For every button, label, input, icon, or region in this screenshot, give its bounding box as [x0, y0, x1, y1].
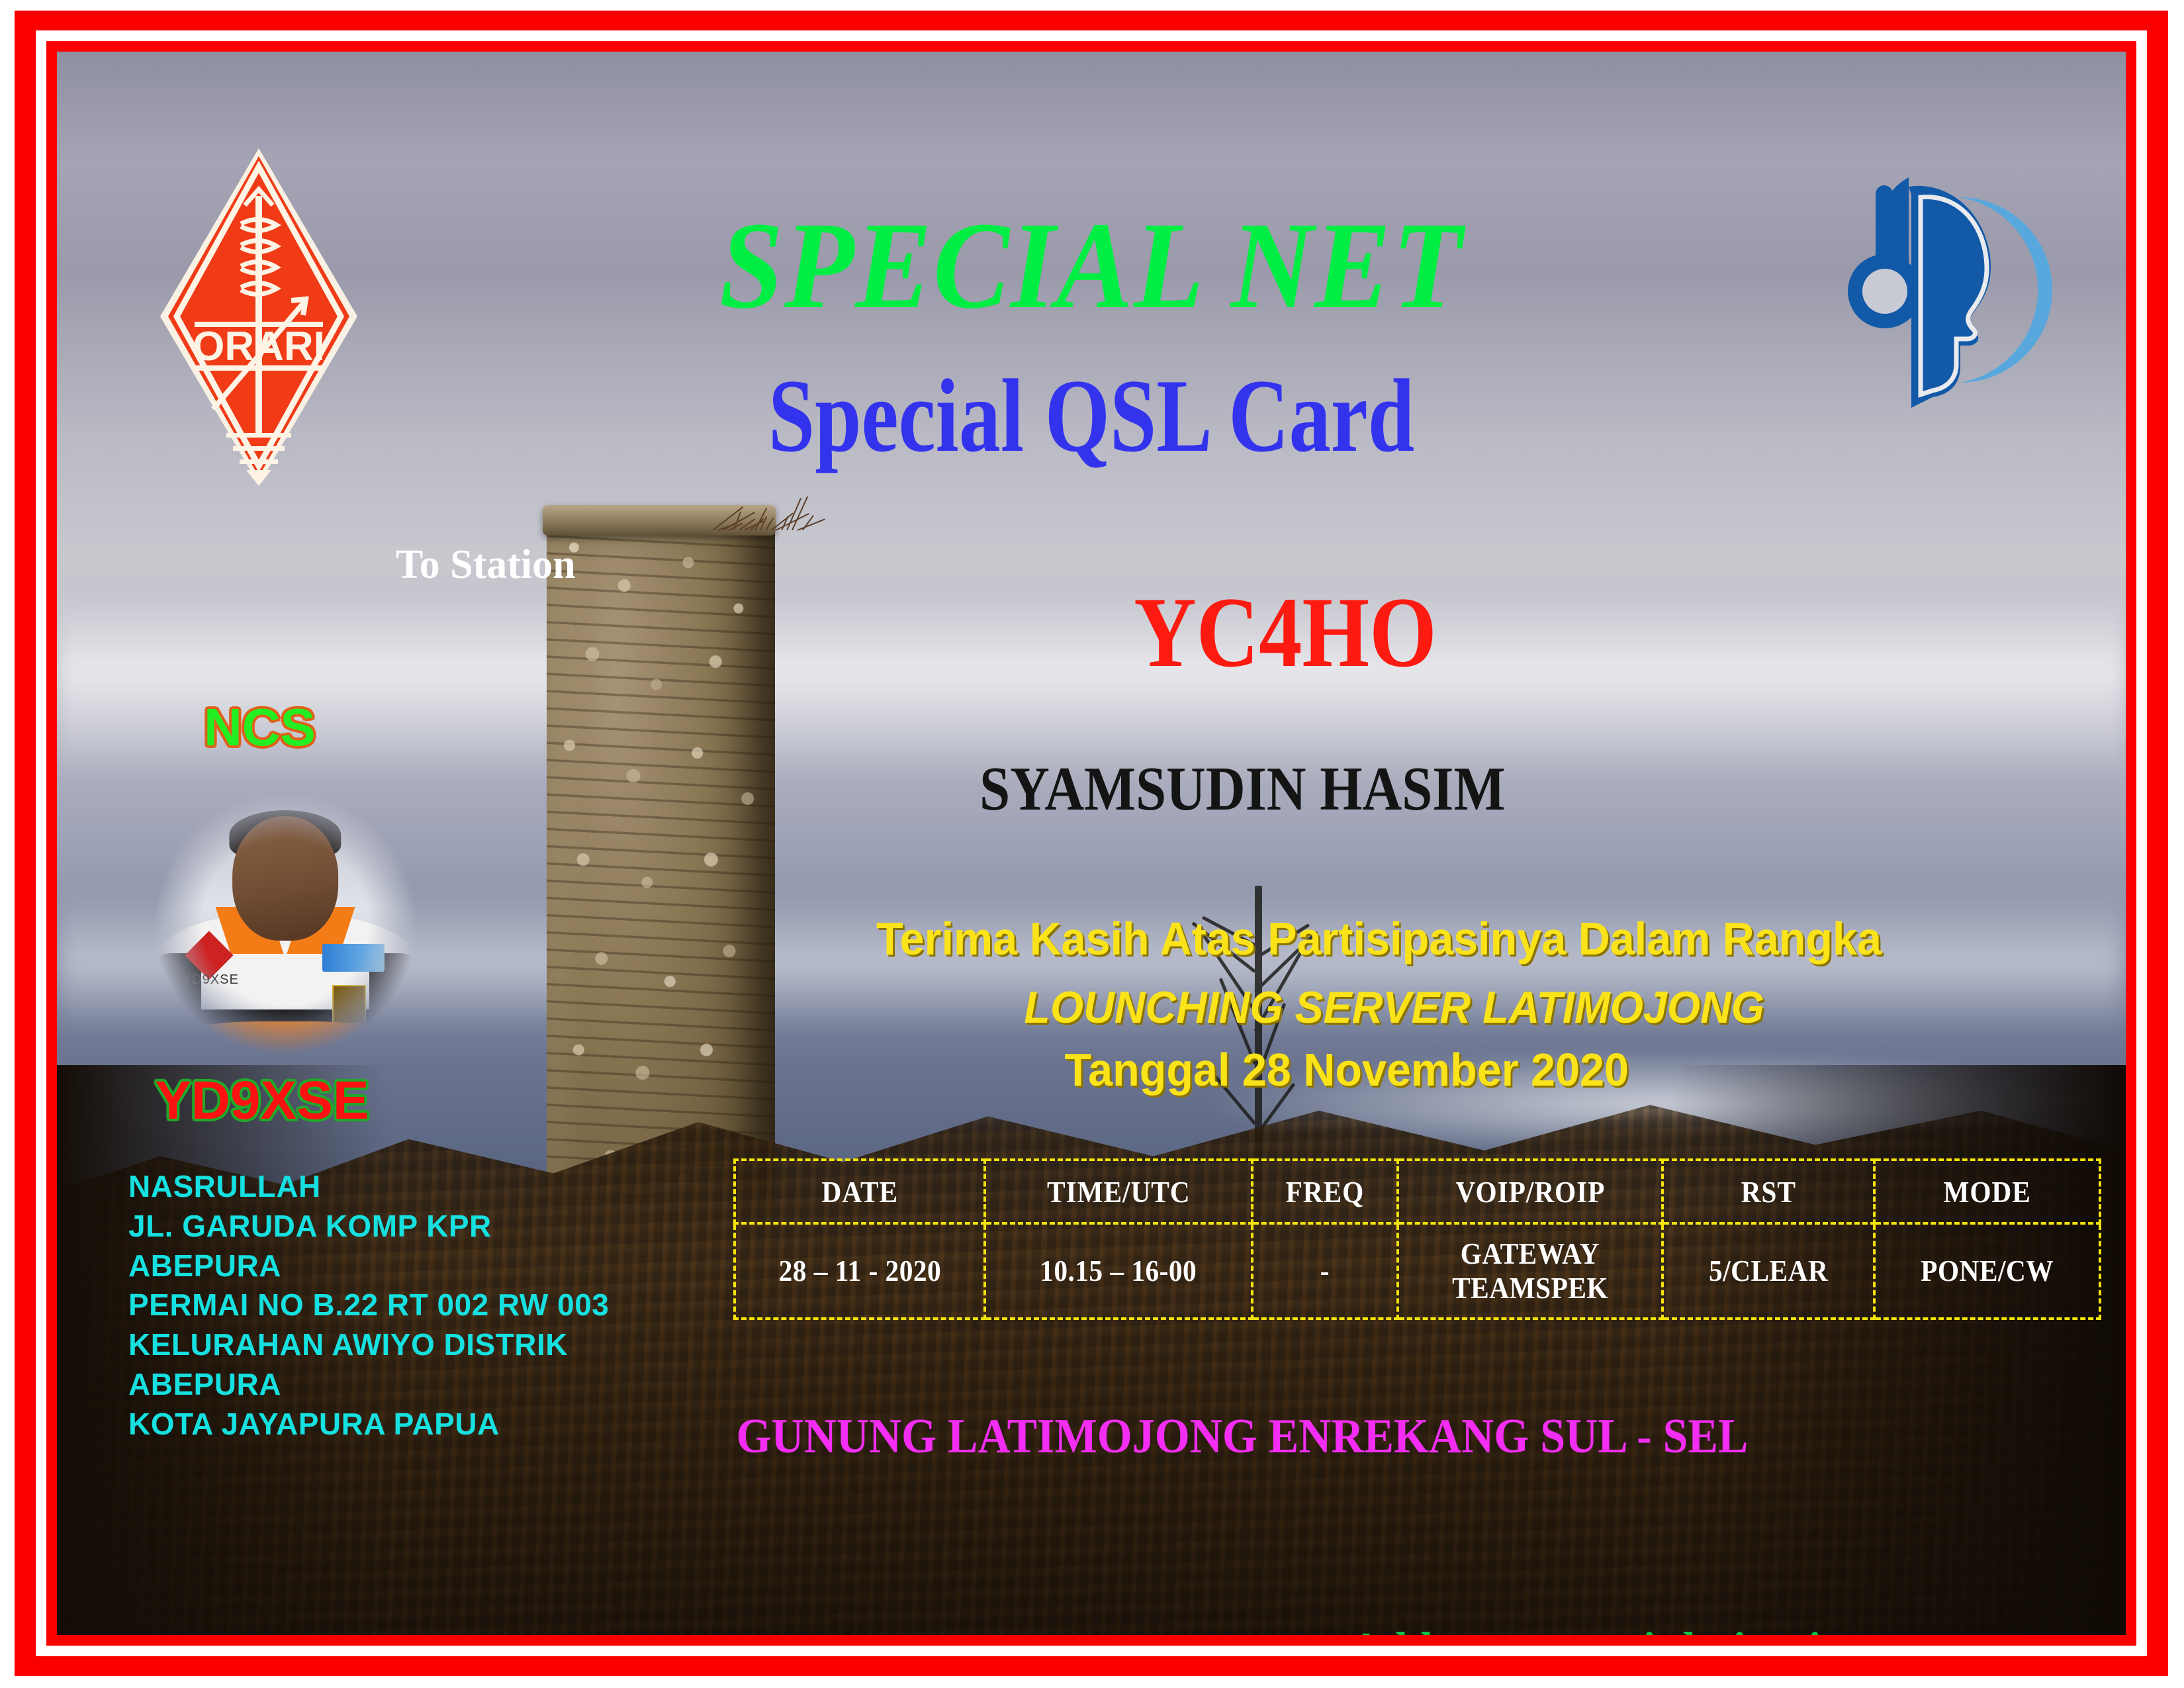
col-header-mode: MODE — [1874, 1160, 2100, 1223]
orari-logo-text: ORARI — [193, 324, 325, 369]
cell-mode: PONE/CW — [1874, 1223, 2100, 1319]
address-line: PERMAI NO B.22 RT 002 RW 003 — [128, 1286, 631, 1325]
address-line: ABEPURA — [128, 1365, 631, 1405]
uniform-id-badge — [332, 985, 366, 1025]
location-caption: GUNUNG LATIMOJONG ENREKANG SUL - SEL — [692, 1409, 1792, 1465]
address-line: KOTA JAYAPURA PAPUA — [128, 1405, 631, 1444]
title-special-net: SPECIAL NET — [687, 193, 1496, 337]
table-header-row: DATE TIME/UTC FREQ VOIP/ROIP RST MODE — [735, 1160, 2100, 1223]
background-photograph: ORARI — [57, 52, 2126, 1635]
cell-date: 28 – 11 - 2020 — [735, 1223, 985, 1319]
address-block: NASRULLAH JL. GARUDA KOMP KPR ABEPURA PE… — [128, 1167, 631, 1444]
thanks-line-1: Terima Kasih Atas Partisipasinya Dalam R… — [850, 912, 1908, 965]
title-special-qsl-card: Special QSL Card — [688, 356, 1495, 477]
footer-slogan: "AMATIR RADIO ADALAH PROGRESIVE" — [138, 1624, 1152, 1635]
cloud-band — [57, 590, 2126, 780]
qso-details-table: DATE TIME/UTC FREQ VOIP/ROIP RST MODE 28… — [733, 1158, 2101, 1320]
thanks-line-2: LOUNCHING SERVER LATIMOJONG — [1005, 982, 1784, 1033]
uniform-callsign-text: YD9XSE — [183, 972, 239, 988]
cell-voip: GATEWAY TEAMSPEK — [1398, 1223, 1662, 1319]
thanks-line-3: Tanggal 28 November 2020 — [1050, 1043, 1643, 1096]
pillar-grass-tuft — [712, 491, 818, 530]
address-line: KELURAHAN AWIYO DISTRIK — [128, 1325, 631, 1365]
voip-headset-profile-logo — [1824, 151, 2102, 429]
address-line: ABEPURA — [128, 1246, 631, 1286]
operator-face — [232, 816, 338, 941]
cell-freq: - — [1252, 1223, 1398, 1319]
address-line: NASRULLAH — [128, 1167, 631, 1207]
ridge-shadow-right — [1670, 1065, 2126, 1635]
ncs-label: NCS — [204, 697, 316, 758]
address-line: JL. GARUDA KOMP KPR — [128, 1207, 631, 1246]
col-header-date: DATE — [735, 1160, 985, 1223]
station-callsign: YC4HO — [1109, 575, 1461, 690]
col-header-freq: FREQ — [1252, 1160, 1398, 1223]
orari-logo: ORARI — [156, 144, 361, 489]
col-header-rst: RST — [1662, 1160, 1874, 1223]
col-header-voip: VOIP/ROIP — [1398, 1160, 1662, 1223]
uniform-club-logo — [322, 944, 385, 972]
station-operator-name: SYAMSUDIN HASIM — [944, 753, 1541, 825]
cell-time: 10.15 – 16-00 — [985, 1223, 1252, 1319]
ncs-callsign: YD9XSE — [155, 1070, 369, 1132]
footer-address: Address : amatir.latimojong.com — [1314, 1622, 2019, 1635]
to-station-label: To Station — [396, 541, 576, 588]
ncs-operator-photo: YD9XSE — [130, 767, 441, 1078]
table-row: 28 – 11 - 2020 10.15 – 16-00 - GATEWAY T… — [735, 1223, 2100, 1319]
qsl-card: ORARI — [0, 0, 2184, 1688]
col-header-time: TIME/UTC — [985, 1160, 1252, 1223]
cell-rst: 5/CLEAR — [1662, 1223, 1874, 1319]
